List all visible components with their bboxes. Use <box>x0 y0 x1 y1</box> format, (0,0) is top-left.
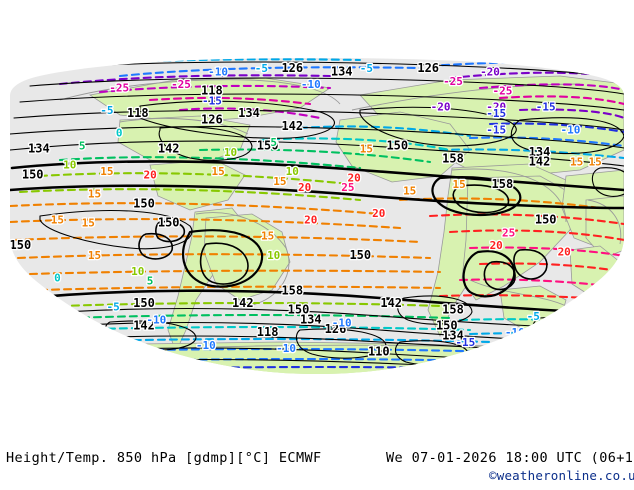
contour-label: 15 <box>273 175 286 188</box>
contour-label: 158 <box>281 283 303 297</box>
contour-label: -5 <box>106 300 119 313</box>
contour-label: 15 <box>588 156 601 169</box>
contour-label: 15 <box>570 156 583 169</box>
contour-label: 20 <box>298 181 311 194</box>
global-contour-map: 1261261341181181261341421341421501501501… <box>0 0 634 440</box>
contour-label: 142 <box>158 142 180 156</box>
contour-label: 158 <box>442 151 464 165</box>
contour-label: -25 <box>109 81 129 94</box>
contour-label: -10 <box>196 339 216 352</box>
contour-label: -10 <box>332 317 352 330</box>
contour-label: 5 <box>147 275 154 288</box>
contour-label: 20 <box>490 239 503 252</box>
contour-label: 134 <box>331 64 353 78</box>
contour-label: 134 <box>28 142 50 156</box>
contour-label: 15 <box>261 230 274 243</box>
contour-label: 118 <box>257 325 279 339</box>
contour-label: 142 <box>281 119 303 133</box>
copyright-label: ©weatheronline.co.uk <box>489 468 634 483</box>
contour-label: 20 <box>143 168 156 181</box>
contour-label: 110 <box>368 345 390 359</box>
contour-label: 150 <box>133 196 155 210</box>
contour-label: 20 <box>304 213 317 226</box>
contour-label: 15 <box>403 185 416 198</box>
contour-label: 158 <box>492 177 514 191</box>
footer-bar: Height/Temp. 850 hPa [gdmp][°C] ECMWF We… <box>0 440 634 490</box>
contour-label: 150 <box>22 167 44 181</box>
contour-label: -20 <box>480 65 500 78</box>
contour-label: 0 <box>116 127 123 140</box>
contour-label: 15 <box>360 143 373 156</box>
contour-label: 15 <box>88 249 101 262</box>
contour-label: -20 <box>431 101 451 114</box>
contour-label: 15 <box>452 178 465 191</box>
contour-label: 15 <box>211 165 224 178</box>
contour-label: -5 <box>255 62 268 75</box>
contour-label: 20 <box>558 246 571 259</box>
contour-label: 142 <box>232 296 254 310</box>
contour-label: 15 <box>88 188 101 201</box>
contour-label: 15 <box>100 165 113 178</box>
contour-label: -15 <box>202 94 222 107</box>
contour-label: -25 <box>492 85 512 98</box>
contour-label: -10 <box>208 65 228 78</box>
contour-label: -5 <box>527 310 540 323</box>
contour-label: -5 <box>360 62 373 75</box>
contour-label: 134 <box>300 312 322 326</box>
contour-label: 10 <box>63 159 76 172</box>
contour-label: 20 <box>372 207 385 220</box>
weather-map-panel: 1261261341181181261341421341421501501501… <box>0 0 634 440</box>
valid-time-label: We 07-01-2026 18:00 UTC (06+12) <box>386 450 634 466</box>
contour-label: -10 <box>146 313 166 326</box>
contour-label: 126 <box>201 113 223 127</box>
contour-label: 0 <box>54 271 61 284</box>
map-title: Height/Temp. 850 hPa [gdmp][°C] ECMWF <box>6 450 322 466</box>
contour-label: -15 <box>536 101 556 114</box>
contour-label: 10 <box>131 265 144 278</box>
contour-label: -5 <box>100 104 113 117</box>
contour-label: -10 <box>301 78 321 91</box>
contour-label: -15 <box>455 336 475 349</box>
contour-label: 142 <box>529 155 551 169</box>
contour-label: 126 <box>281 61 303 75</box>
contour-label: 158 <box>442 303 464 317</box>
contour-label: 150 <box>158 216 180 230</box>
contour-label: 15 <box>51 213 64 226</box>
contour-label: -25 <box>171 78 191 91</box>
contour-label: 126 <box>417 61 439 75</box>
contour-label: 10 <box>267 249 280 262</box>
contour-label: -10 <box>276 342 296 355</box>
contour-label: 118 <box>127 106 149 120</box>
contour-label: 10 <box>224 146 237 159</box>
contour-label: -10 <box>560 123 580 136</box>
contour-label: 25 <box>341 181 354 194</box>
contour-label: 5 <box>79 139 86 152</box>
contour-label: 150 <box>349 248 371 262</box>
contour-label: 134 <box>238 106 260 120</box>
contour-label: 150 <box>10 238 32 252</box>
contour-label: 150 <box>133 296 155 310</box>
contour-label: -15 <box>486 107 506 120</box>
contour-label: 10 <box>286 165 299 178</box>
contour-label: 5 <box>270 136 277 149</box>
contour-label: -15 <box>486 123 506 136</box>
contour-label: -25 <box>443 75 463 88</box>
contour-label: 15 <box>82 217 95 230</box>
contour-label: 25 <box>502 226 515 239</box>
contour-label: 150 <box>535 212 557 226</box>
contour-label: 150 <box>386 138 408 152</box>
contour-label: 142 <box>380 296 402 310</box>
